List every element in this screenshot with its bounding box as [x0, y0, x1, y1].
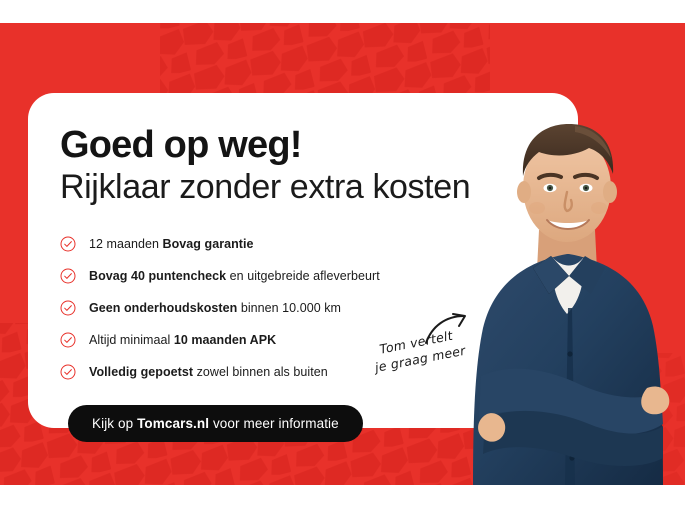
text-bold: Bovag garantie: [163, 237, 254, 251]
list-item-text: Geen onderhoudskosten binnen 10.000 km: [89, 301, 341, 315]
cta-bold: Tomcars.nl: [137, 416, 209, 431]
check-circle-icon: [60, 364, 76, 380]
cta-pre: Kijk op: [92, 416, 137, 431]
list-item-text: 12 maanden Bovag garantie: [89, 237, 254, 251]
text-bold: Volledig gepoetst: [89, 365, 193, 379]
text-bold: 10 maanden APK: [174, 333, 276, 347]
headline: Goed op weg! Rijklaar zonder extra koste…: [60, 124, 540, 208]
list-item-text: Bovag 40 puntencheck en uitgebreide afle…: [89, 269, 380, 283]
cta-button[interactable]: Kijk op Tomcars.nl voor meer informatie: [68, 405, 363, 442]
text-post: zowel binnen als buiten: [193, 365, 328, 379]
list-item: Geen onderhoudskosten binnen 10.000 km: [60, 292, 480, 323]
text-bold: Bovag 40 puntencheck: [89, 269, 226, 283]
text-post: en uitgebreide afleverbeurt: [226, 269, 380, 283]
check-circle-icon: [60, 332, 76, 348]
check-circle-icon: [60, 300, 76, 316]
text-pre: 12 maanden: [89, 237, 163, 251]
check-circle-icon: [60, 236, 76, 252]
list-item: 12 maanden Bovag garantie: [60, 228, 480, 259]
list-item: Bovag 40 puntencheck en uitgebreide afle…: [60, 260, 480, 291]
cta-label: Kijk op Tomcars.nl voor meer informatie: [92, 416, 339, 431]
headline-line-2: Rijklaar zonder extra kosten: [60, 166, 540, 208]
text-bold: Geen onderhoudskosten: [89, 301, 237, 315]
cta-post: voor meer informatie: [209, 416, 339, 431]
banner-root: Goed op weg! Rijklaar zonder extra koste…: [0, 0, 685, 514]
headline-line-1: Goed op weg!: [60, 124, 540, 166]
text-pre: Altijd minimaal: [89, 333, 174, 347]
text-post: binnen 10.000 km: [237, 301, 341, 315]
check-circle-icon: [60, 268, 76, 284]
list-item-text: Volledig gepoetst zowel binnen als buite…: [89, 365, 328, 379]
list-item-text: Altijd minimaal 10 maanden APK: [89, 333, 276, 347]
